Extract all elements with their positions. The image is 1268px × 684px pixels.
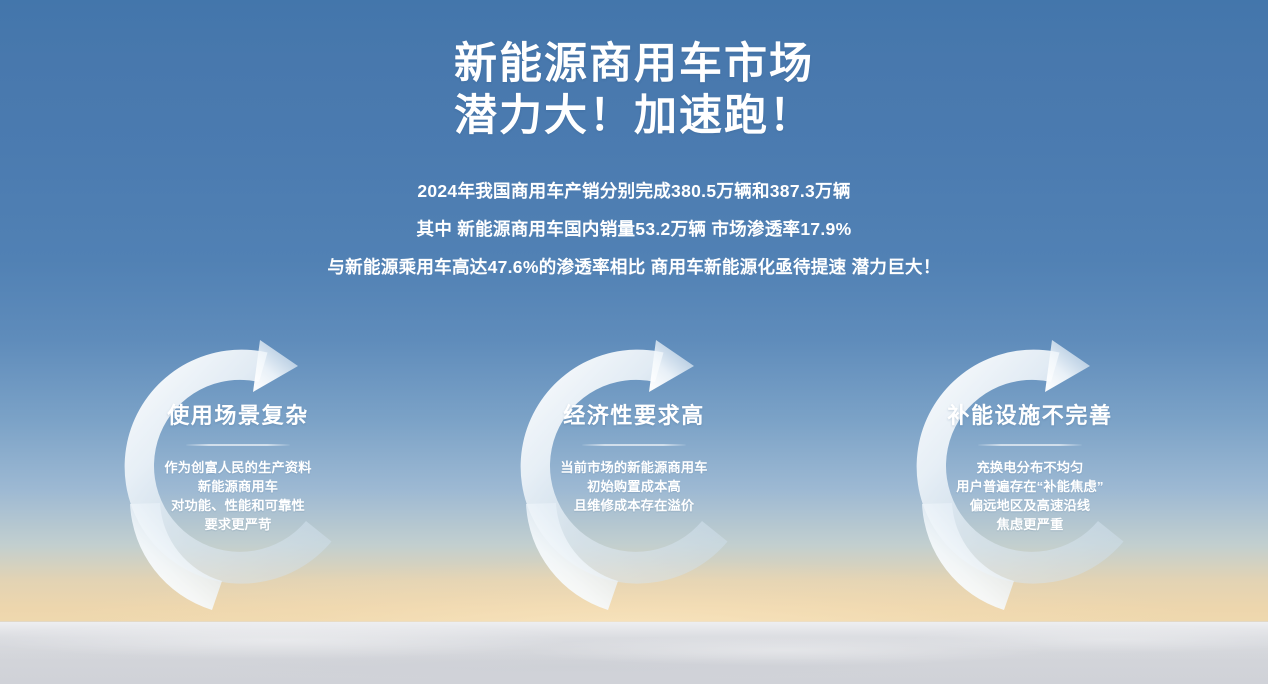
card-heading: 经济性要求高 — [508, 402, 760, 430]
subtitle-block: 2024年我国商用车产销分别完成380.5万辆和387.3万辆 其中 新能源商用… — [0, 172, 1268, 286]
card-body-line: 当前市场的新能源商用车 — [508, 458, 760, 477]
card-body-line: 要求更严苛 — [112, 515, 364, 534]
card-body-line: 焦虑更严重 — [904, 515, 1156, 534]
card-heading: 使用场景复杂 — [112, 402, 364, 430]
infographic-poster: 新能源商用车市场 潜力大！加速跑！ 2024年我国商用车产销分别完成380.5万… — [0, 0, 1268, 684]
card-body-line: 新能源商用车 — [112, 477, 364, 496]
card-divider — [582, 444, 686, 446]
ring-card-economics: 经济性要求高 当前市场的新能源商用车 初始购置成本高 且维修成本存在溢价 — [488, 318, 780, 618]
card-body-line: 作为创富人民的生产资料 — [112, 458, 364, 477]
card-divider — [186, 444, 290, 446]
card-body-line: 初始购置成本高 — [508, 477, 760, 496]
subtitle-line-3: 与新能源乘用车高达47.6%的渗透率相比 商用车新能源化亟待提速 潜力巨大！ — [0, 248, 1268, 286]
subtitle-line-2: 其中 新能源商用车国内销量53.2万辆 市场渗透率17.9% — [0, 210, 1268, 248]
ring-card-charging-infrastructure: 补能设施不完善 充换电分布不均匀 用户普遍存在“补能焦虑” 偏远地区及高速沿线 … — [884, 318, 1176, 618]
card-body-line: 且维修成本存在溢价 — [508, 496, 760, 515]
subtitle-line-1: 2024年我国商用车产销分别完成380.5万辆和387.3万辆 — [0, 172, 1268, 210]
card-heading: 补能设施不完善 — [904, 402, 1156, 430]
page-title: 新能源商用车市场 潜力大！加速跑！ — [0, 38, 1268, 142]
ring-card-usage-scenario: 使用场景复杂 作为创富人民的生产资料 新能源商用车 对功能、性能和可靠性 要求更… — [92, 318, 384, 618]
card-body-line: 对功能、性能和可靠性 — [112, 496, 364, 515]
card-body-line: 充换电分布不均匀 — [904, 458, 1156, 477]
card-divider — [978, 444, 1082, 446]
ring-card-content: 补能设施不完善 充换电分布不均匀 用户普遍存在“补能焦虑” 偏远地区及高速沿线 … — [904, 318, 1156, 534]
ring-card-content: 经济性要求高 当前市场的新能源商用车 初始购置成本高 且维修成本存在溢价 — [508, 318, 760, 515]
card-body-line: 偏远地区及高速沿线 — [904, 496, 1156, 515]
ground-surface — [0, 622, 1268, 684]
title-line-2: 潜力大！加速跑！ — [0, 90, 1268, 142]
ring-card-content: 使用场景复杂 作为创富人民的生产资料 新能源商用车 对功能、性能和可靠性 要求更… — [112, 318, 364, 534]
ring-card-row: 使用场景复杂 作为创富人民的生产资料 新能源商用车 对功能、性能和可靠性 要求更… — [0, 318, 1268, 628]
title-line-1: 新能源商用车市场 — [0, 38, 1268, 90]
card-body-line: 用户普遍存在“补能焦虑” — [904, 477, 1156, 496]
